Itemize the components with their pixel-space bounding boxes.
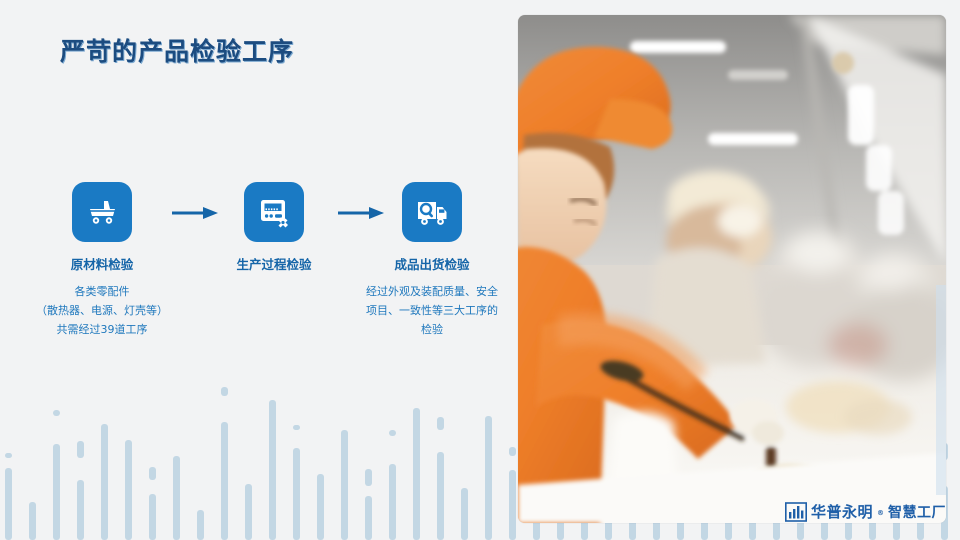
brand-logo-main-text: 华普永明 — [811, 501, 873, 522]
decorative-bar-segment — [293, 425, 300, 430]
brand-logo: 华普永明 ® 智慧工厂 — [785, 501, 946, 522]
decorative-bar — [197, 510, 204, 540]
decorative-bar — [101, 424, 108, 540]
decorative-bar — [413, 408, 420, 540]
mine-cart-icon — [72, 182, 132, 242]
decorative-bar — [437, 452, 444, 540]
decorative-bar-segment — [5, 453, 12, 458]
decorative-bar — [485, 416, 492, 540]
flow-step-desc-line: 检验 — [352, 320, 512, 339]
flow-step-desc-line: 项目、一致性等三大工序的 — [352, 301, 512, 320]
decorative-bar-segment — [221, 388, 228, 394]
inspection-machine-icon — [244, 182, 304, 242]
flow-step-title: 生产过程检验 — [196, 254, 352, 273]
delivery-truck-inspection-icon — [402, 182, 462, 242]
decorative-bar — [389, 464, 396, 540]
flow-step-title: 原材料检验 — [22, 254, 182, 273]
flow-step-finished-goods[interactable]: 成品出货检验 经过外观及装配质量、安全 项目、一致性等三大工序的 检验 — [352, 182, 512, 339]
decorative-bar — [53, 444, 60, 540]
flow-step-desc-line: （散热器、电源、灯壳等） — [22, 301, 182, 320]
decorative-bar-segment — [53, 410, 60, 416]
flow-step-production-process[interactable]: 生产过程检验 — [196, 182, 352, 273]
decorative-bar — [245, 484, 252, 540]
flow-step-description: 各类零配件 （散热器、电源、灯壳等） 共需经过39道工序 — [22, 282, 182, 339]
decorative-bar-segment — [389, 430, 396, 436]
brand-logo-registered-mark: ® — [877, 509, 884, 517]
decorative-bar-segment — [149, 467, 156, 480]
flow-step-desc-line: 各类零配件 — [22, 282, 182, 301]
decorative-bar-segment — [221, 387, 228, 396]
slide-canvas: 严苛的产品检验工序 原材料检验 各类零配件 （散热器、电源、灯壳等） 共需经过3… — [0, 0, 960, 540]
decorative-bar — [461, 488, 468, 540]
decorative-bar — [149, 494, 156, 540]
decorative-bar — [29, 502, 36, 540]
brand-logo-sub-text: 智慧工厂 — [888, 502, 946, 522]
decorative-bar — [509, 470, 516, 540]
flow-step-raw-material[interactable]: 原材料检验 各类零配件 （散热器、电源、灯壳等） 共需经过39道工序 — [22, 182, 182, 339]
flow-step-description: 经过外观及装配质量、安全 项目、一致性等三大工序的 检验 — [352, 282, 512, 339]
decorative-bar-segment — [437, 417, 444, 430]
decorative-bar — [221, 422, 228, 540]
flow-step-desc-line: 共需经过39道工序 — [22, 320, 182, 339]
decorative-bar — [341, 430, 348, 540]
decorative-bar — [269, 400, 276, 540]
process-flow: 原材料检验 各类零配件 （散热器、电源、灯壳等） 共需经过39道工序 — [0, 182, 500, 382]
decorative-bar — [365, 496, 372, 540]
page-title: 严苛的产品检验工序 — [60, 32, 294, 68]
brand-logo-mark — [785, 502, 807, 522]
decorative-bar — [125, 440, 132, 540]
decorative-bar-segment — [509, 447, 516, 456]
decorative-bar-segment — [365, 469, 372, 486]
decorative-bar-segment — [77, 441, 84, 458]
factory-photo — [518, 15, 946, 523]
decorative-bar — [5, 468, 12, 540]
decorative-bar — [317, 474, 324, 540]
decorative-bar — [173, 456, 180, 540]
decorative-bar — [77, 480, 84, 540]
flow-step-title: 成品出货检验 — [352, 254, 512, 273]
decorative-bar — [293, 448, 300, 540]
flow-step-desc-line: 经过外观及装配质量、安全 — [352, 282, 512, 301]
